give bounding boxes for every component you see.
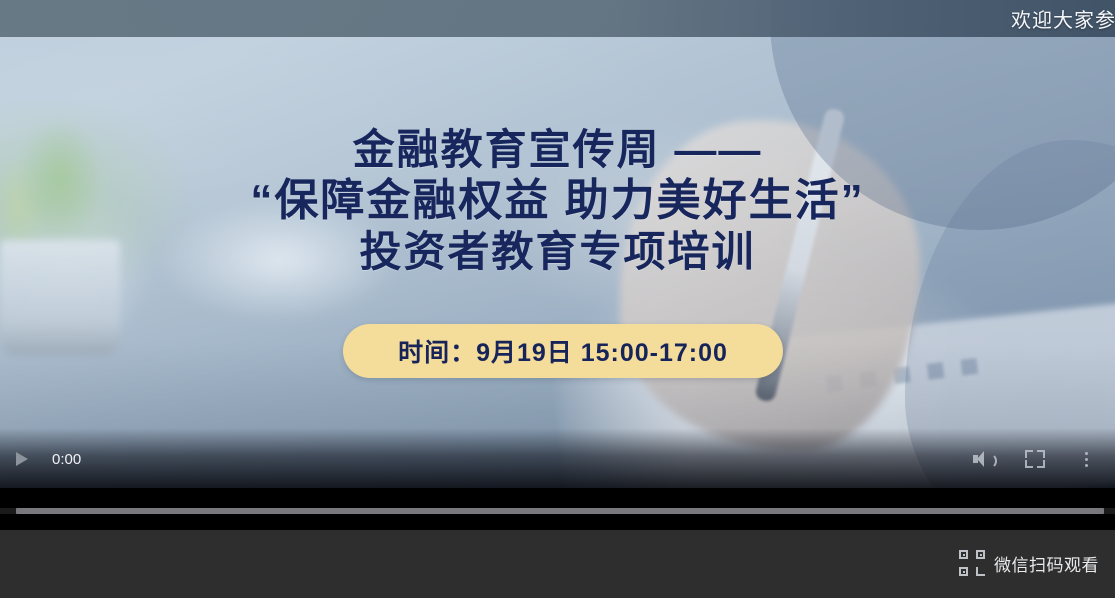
controls-right-group: [973, 449, 1115, 469]
event-time-badge: 时间：9月19日 15:00-17:00: [343, 324, 783, 378]
play-icon[interactable]: [14, 450, 30, 468]
qr-code-icon: [959, 550, 985, 576]
headline-line-2: “保障金融权益 助力美好生活”: [0, 176, 1115, 226]
bottom-bar: 微信扫码观看: [0, 530, 1115, 598]
video-player[interactable]: 欢迎大家参加 金融教育宣传周 —— “保障金融权益 助力美好生活” 投资者教育专…: [0, 0, 1115, 508]
wechat-scan-button[interactable]: 微信扫码观看: [959, 550, 1099, 576]
volume-icon[interactable]: [973, 449, 993, 469]
wechat-scan-label: 微信扫码观看: [994, 551, 1099, 576]
welcome-banner-text: 欢迎大家参加: [1011, 4, 1115, 33]
controls-left-group: 0:00: [0, 450, 81, 468]
scrollbar-thumb[interactable]: [16, 508, 1104, 514]
headline-line-1: 金融教育宣传周 ——: [0, 126, 1115, 174]
video-control-bar: 0:00: [0, 428, 1115, 490]
welcome-banner: 欢迎大家参加: [0, 0, 1115, 37]
video-page: 欢迎大家参加 金融教育宣传周 —— “保障金融权益 助力美好生活” 投资者教育专…: [0, 0, 1115, 598]
headline-line-3: 投资者教育专项培训: [0, 228, 1115, 276]
current-time-label: 0:00: [52, 451, 81, 468]
headline-block: 金融教育宣传周 —— “保障金融权益 助力美好生活” 投资者教育专项培训: [0, 126, 1115, 276]
scrollbar-region: [0, 488, 1115, 530]
event-time-text: 时间：9月19日 15:00-17:00: [398, 333, 728, 369]
fullscreen-icon[interactable]: [1025, 449, 1045, 469]
video-stage[interactable]: 欢迎大家参加 金融教育宣传周 —— “保障金融权益 助力美好生活” 投资者教育专…: [0, 0, 1115, 490]
more-vertical-icon[interactable]: [1077, 449, 1097, 469]
